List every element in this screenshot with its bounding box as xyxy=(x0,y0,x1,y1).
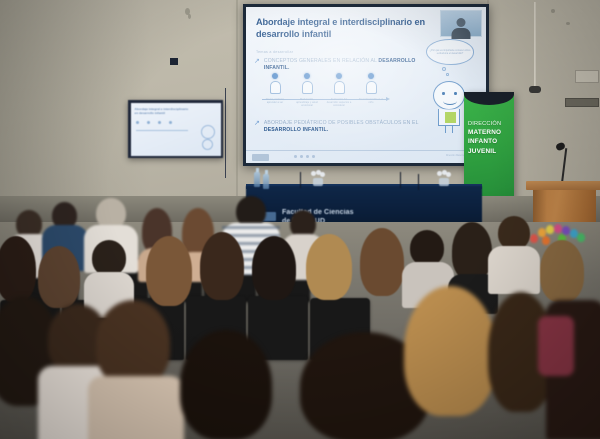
water-bottle xyxy=(263,174,269,189)
footer-dots xyxy=(294,155,315,158)
thought-bubble: ¿Por qué es importante conocer cómo evol… xyxy=(426,39,474,65)
banner-pole-base xyxy=(529,86,541,93)
podium-top xyxy=(526,181,600,190)
flower-vase xyxy=(436,170,452,186)
table-microphone xyxy=(300,172,301,188)
timeline-figure-icon xyxy=(270,81,281,94)
timeline-caption: Crecer, madurar, aprender a ser xyxy=(262,98,288,104)
secondary-monitor: Abordaje integral e interdisciplinario e… xyxy=(128,100,223,158)
timeline-node: Crecer, madurar, aprender a ser xyxy=(262,73,288,104)
wall-mark xyxy=(551,9,555,13)
slide-bullet-1-text: CONCEPTOS GENERALES EN RELACIÓN AL DESAR… xyxy=(264,58,434,73)
presentation-slide: Abordaje integral e interdisciplinario e… xyxy=(246,7,486,163)
monitor-cable xyxy=(225,88,226,178)
timeline-dot xyxy=(272,73,278,79)
slide-footer: Dirección Materno Infanto Juvenil xyxy=(246,150,486,163)
timeline-node: Neurodesarrollo en el niño xyxy=(358,73,384,104)
video-call-thumbnail xyxy=(440,10,482,37)
timeline-caption: Evaluación del desarrollo: aspectos a co… xyxy=(326,98,352,107)
timeline-figure-icon xyxy=(334,81,345,94)
mascot-legs xyxy=(441,126,457,133)
wall-plate xyxy=(575,70,599,83)
table-microphone xyxy=(400,172,401,188)
banner-pole xyxy=(534,2,536,90)
projection-screen: Abordaje integral e interdisciplinario e… xyxy=(243,4,489,166)
banner-line-1: DIRECCIÓN xyxy=(468,120,510,128)
timeline-dot xyxy=(336,73,342,79)
thought-bubble-small xyxy=(442,67,446,71)
timeline-caption: Maduración, aprendizaje y salud emociona… xyxy=(294,98,320,107)
vase-base xyxy=(439,178,449,186)
banner-top-arc xyxy=(464,92,514,105)
timeline-node: Maduración, aprendizaje y salud emociona… xyxy=(294,73,320,107)
slide-timeline: Crecer, madurar, aprender a ser Maduraci… xyxy=(262,73,387,115)
flower-vase xyxy=(310,170,326,186)
secondary-monitor-line xyxy=(136,130,188,131)
slide-bullet-2: ↗ ABORDAJE PEDIÁTRICO DE POSIBLES OBSTÁC… xyxy=(254,120,434,135)
remote-participant-avatar xyxy=(457,18,466,27)
mascot-smile xyxy=(443,97,457,105)
arrow-up-right-icon: ↗ xyxy=(254,120,260,127)
wall-seam xyxy=(236,0,238,200)
arrow-up-right-icon: ↗ xyxy=(254,58,260,65)
wall-mark xyxy=(188,14,191,19)
vase-base xyxy=(313,178,323,186)
secondary-monitor-title: Abordaje integral e interdisciplinario e… xyxy=(135,107,193,115)
mascot-eye-left xyxy=(442,92,445,95)
banner-line-4: JUVENIL xyxy=(468,147,510,156)
slide-kicker: Temas a desarrollar xyxy=(256,50,293,54)
timeline-figure-icon xyxy=(302,81,313,94)
slide-bullet-1: ↗ CONCEPTOS GENERALES EN RELACIÓN AL DES… xyxy=(254,58,434,73)
wall-mark xyxy=(566,22,570,25)
secondary-monitor-mascot xyxy=(202,139,213,150)
timeline-node: Evaluación del desarrollo: aspectos a co… xyxy=(326,73,352,107)
auditorium-photo: Abordaje integral e interdisciplinario e… xyxy=(0,0,600,439)
banner-line-3: INFANTO xyxy=(468,137,510,146)
mascot-body xyxy=(438,109,460,126)
thought-bubble-text: ¿Por qué es importante conocer cómo evol… xyxy=(429,49,471,55)
slide-bullet-2-text: ABORDAJE PEDIÁTRICO DE POSIBLES OBSTÁCUL… xyxy=(264,120,434,135)
wall-vent xyxy=(565,98,599,107)
banner-text: DIRECCIÓN MATERNO INFANTO JUVENIL xyxy=(468,120,510,156)
secondary-monitor-screen: Abordaje integral e interdisciplinario e… xyxy=(131,103,221,156)
secondary-monitor-bubble xyxy=(201,125,215,139)
thought-bubble-tiny xyxy=(446,73,449,76)
timeline-dot xyxy=(304,73,310,79)
mascot-head xyxy=(433,81,465,110)
monitor-stand xyxy=(170,58,178,65)
water-bottle xyxy=(254,172,260,187)
table-microphone xyxy=(418,174,419,190)
mascot-shirt xyxy=(445,112,456,123)
timeline-figure-icon xyxy=(366,81,377,94)
secondary-monitor-dots xyxy=(136,121,172,124)
timeline-caption: Neurodesarrollo en el niño xyxy=(358,98,384,104)
slide-title: Abordaje integral e interdisciplinario e… xyxy=(256,16,446,40)
mascot-eye-right xyxy=(454,92,457,95)
footer-logo-icon xyxy=(252,154,269,161)
banner-line-2: MATERNO xyxy=(468,128,510,137)
timeline-dot xyxy=(368,73,374,79)
